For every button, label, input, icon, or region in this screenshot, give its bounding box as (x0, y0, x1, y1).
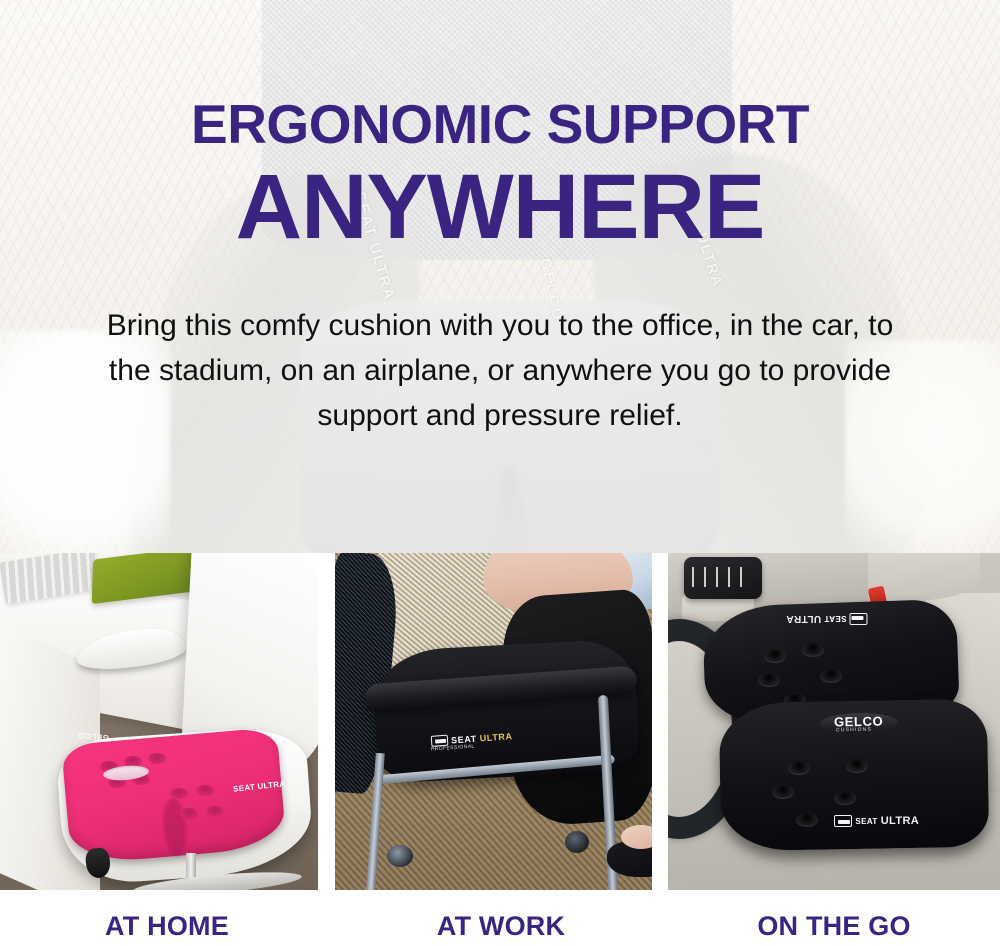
cushion-dimple (170, 788, 188, 799)
panel-at-work: SEAT ULTRA PROFESSIONAL (335, 553, 653, 890)
panel-at-home: GELCO SEAT ULTRA (0, 553, 318, 890)
headline-primary-line1: ERGONOMIC SUPPORT (0, 96, 1000, 152)
headline-primary-line2: ANYWHERE (0, 160, 1000, 254)
brand-ultra-label: ULTRA (786, 614, 821, 625)
caption-at-home: AT HOME (0, 890, 334, 946)
hero-body-copy: Bring this comfy cushion with you to the… (95, 303, 905, 438)
cushion-brand-lockup-upper: SEAT ULTRA (786, 613, 867, 625)
chair-wheel-right (565, 831, 589, 853)
hero-section: SEAT ULTRA GELCO ULTRA ERGONOMIC SUPPORT… (0, 0, 1000, 553)
panel-on-the-go: SEAT ULTRA GELCO CUSHIONS SEAT ULTRA (668, 553, 1000, 890)
cushion-dimple (180, 808, 198, 819)
caption-row: AT HOME AT WORK ON THE GO (0, 890, 1000, 946)
brand-ultra-label: ULTRA (479, 731, 512, 743)
brand-seat-label: SEAT (855, 817, 877, 826)
cushion-brand-lockup-lower: SEAT ULTRA (834, 815, 919, 827)
brand-ultra-label: ULTRA (881, 815, 919, 827)
cushion-dimple (206, 806, 224, 817)
gelco-g-mark-icon (834, 815, 852, 827)
gelco-wordmark-sub: CUSHIONS (836, 727, 872, 734)
brand-seat-label: SEAT (824, 615, 846, 624)
caption-on-the-go: ON THE GO (668, 890, 1000, 946)
use-case-panel-row: GELCO SEAT ULTRA SEAT ULTRA PROFESSIONAL (0, 553, 1000, 890)
gelco-g-mark-icon (850, 613, 868, 625)
cushion-dimple (148, 753, 166, 764)
caption-at-work: AT WORK (334, 890, 668, 946)
hero-content: ERGONOMIC SUPPORT ANYWHERE Bring this co… (0, 0, 1000, 553)
product-feature-infographic: SEAT ULTRA GELCO ULTRA ERGONOMIC SUPPORT… (0, 0, 1000, 946)
chair-wheel-left (387, 845, 413, 867)
gear-shifter-image (684, 557, 762, 599)
cushion-dimple (196, 785, 214, 796)
